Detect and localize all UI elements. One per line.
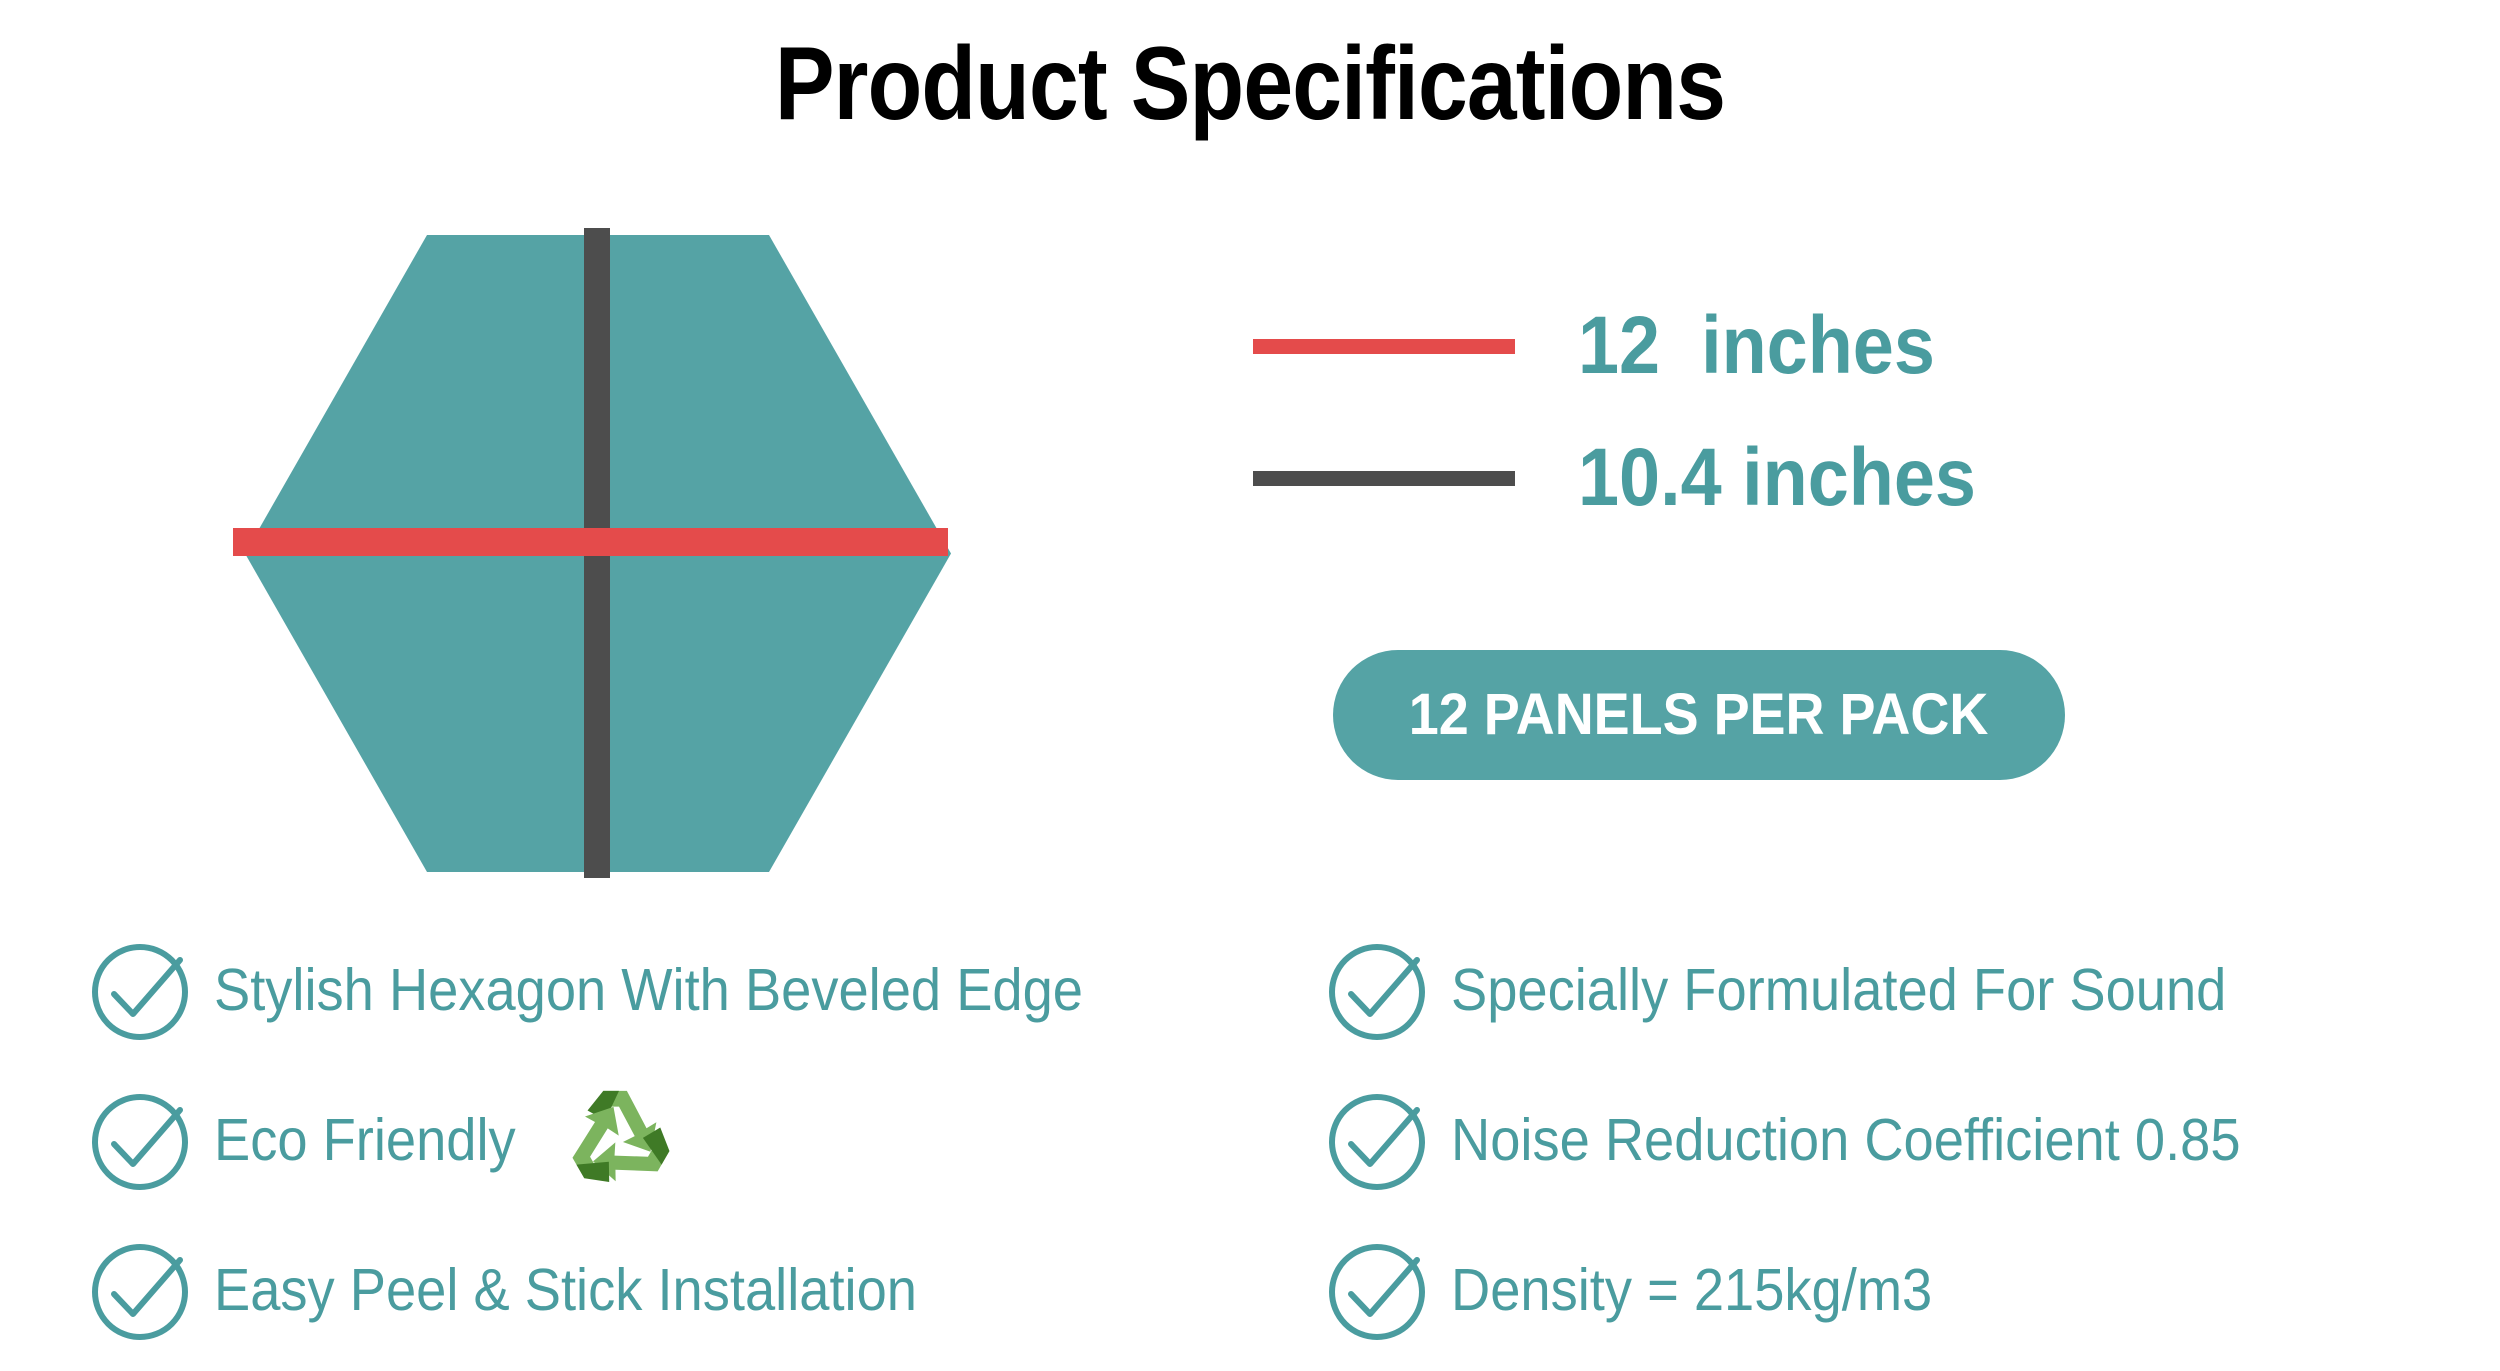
feature-item-peel-stick: Easy Peel & Stick Installation xyxy=(88,1215,1268,1365)
check-circle-icon xyxy=(88,938,192,1042)
feature-label: Specially Formulated For Sound xyxy=(1451,959,2226,1021)
check-circle-icon xyxy=(1325,938,1429,1042)
feature-label: Noise Reduction Coefficient 0.85 xyxy=(1451,1109,2241,1171)
feature-label: Eco Friendly xyxy=(214,1109,516,1171)
feature-item-noise-reduction: Noise Reduction Coefficient 0.85 xyxy=(1325,1065,2485,1215)
feature-list-left: Stylish Hexagon With Beveled Edge Eco Fr… xyxy=(88,915,1268,1365)
feature-item-density: Density = 215kg/m3 xyxy=(1325,1215,2485,1365)
page-title: Product Specifications xyxy=(175,24,2325,144)
feature-label: Easy Peel & Stick Installation xyxy=(214,1259,917,1321)
hexagon-diagram xyxy=(233,228,963,878)
check-circle-icon xyxy=(88,1238,192,1342)
feature-label: Stylish Hexagon With Beveled Edge xyxy=(214,959,1083,1021)
panels-per-pack-badge: 12 PANELS PER PACK xyxy=(1333,650,2065,780)
legend-label-width: 12 inches xyxy=(1578,305,1935,387)
check-circle-icon xyxy=(1325,1238,1429,1342)
feature-item-formulated-sound: Specially Formulated For Sound xyxy=(1325,915,2485,1065)
badge-label: 12 PANELS PER PACK xyxy=(1409,686,1988,744)
red-line-swatch xyxy=(1253,339,1515,354)
legend-label-height: 10.4 inches xyxy=(1578,437,1976,519)
recycle-icon xyxy=(560,1081,678,1199)
check-circle-icon xyxy=(88,1088,192,1192)
legend-item-height: 10.4 inches xyxy=(1253,412,2353,544)
width-dimension-line xyxy=(233,528,948,556)
dimension-legend: 12 inches 10.4 inches xyxy=(1253,280,2353,544)
check-circle-icon xyxy=(1325,1088,1429,1192)
legend-item-width: 12 inches xyxy=(1253,280,2353,412)
feature-item-stylish-hexagon: Stylish Hexagon With Beveled Edge xyxy=(88,915,1268,1065)
feature-label: Density = 215kg/m3 xyxy=(1451,1259,1932,1321)
feature-item-eco-friendly: Eco Friendly xyxy=(88,1065,1268,1215)
feature-list-right: Specially Formulated For Sound Noise Red… xyxy=(1325,915,2485,1365)
product-specifications-infographic: Product Specifications 12 inches 10.4 in… xyxy=(0,0,2500,1371)
gray-line-swatch xyxy=(1253,471,1515,486)
